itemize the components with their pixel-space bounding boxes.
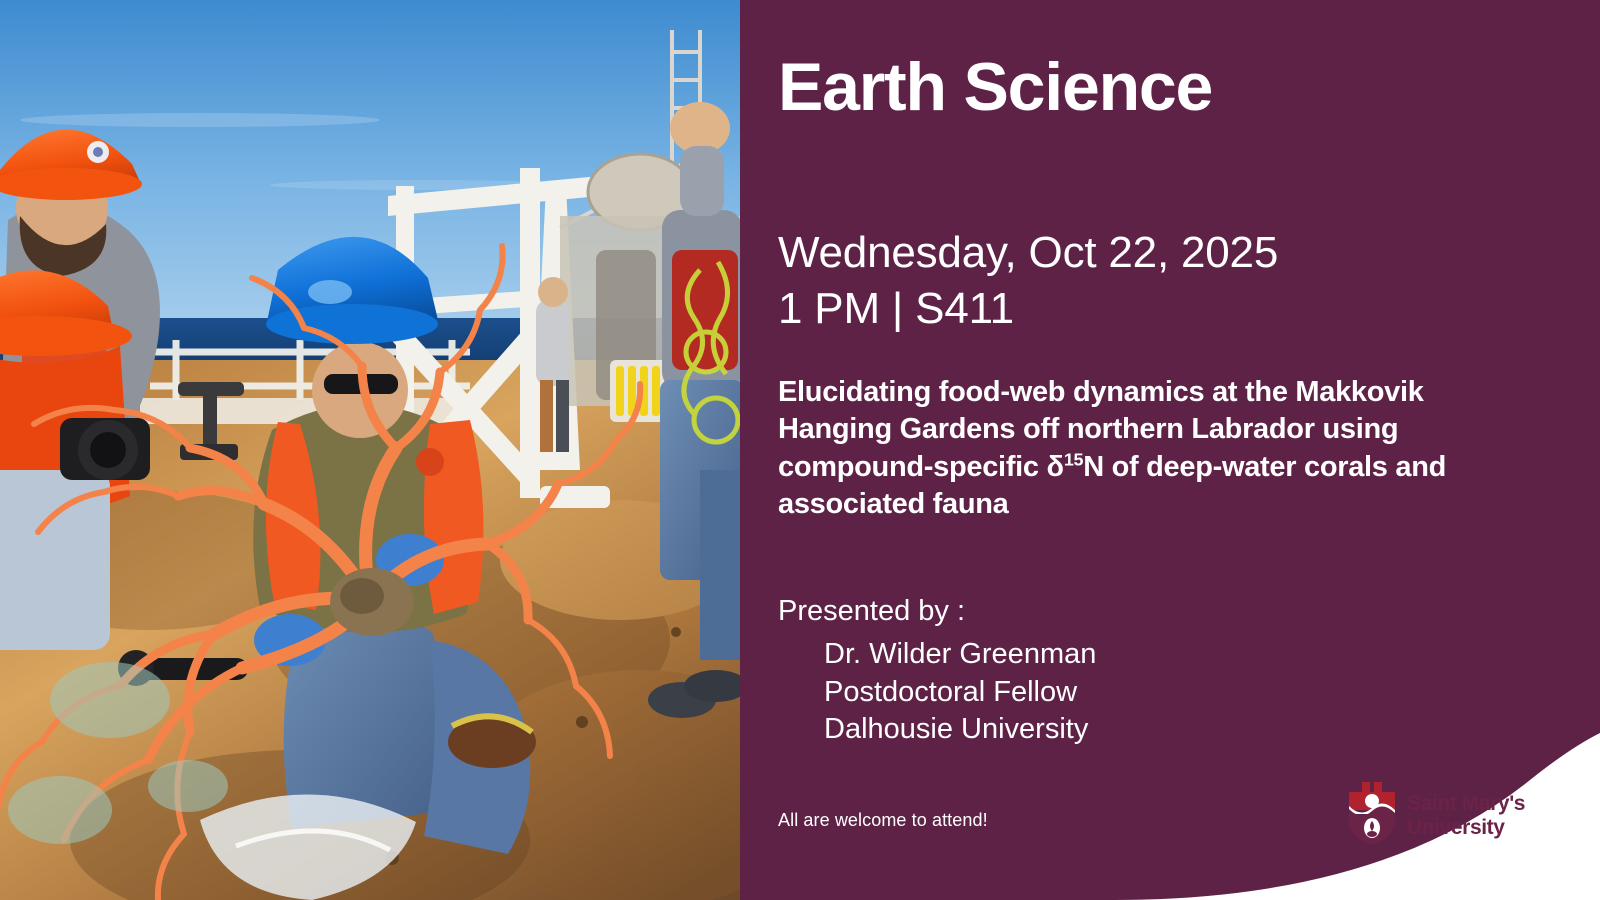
- event-time-location: 1 PM | S411: [778, 281, 1278, 337]
- presenter-position: Postdoctoral Fellow: [824, 674, 1096, 712]
- presenter-affiliation: Dalhousie University: [824, 711, 1096, 749]
- presenter-name: Dr. Wilder Greenman: [824, 636, 1096, 674]
- logo-line-2: University: [1407, 816, 1505, 839]
- logo-line-1: Saint Mary's: [1407, 792, 1525, 815]
- presenter-details: Dr. Wilder Greenman Postdoctoral Fellow …: [824, 636, 1096, 749]
- page-title: Earth Science: [778, 52, 1212, 123]
- talk-title: Elucidating food-web dynamics at the Mak…: [778, 374, 1540, 524]
- welcome-note: All are welcome to attend!: [778, 810, 988, 831]
- isotope-superscript: 15: [1064, 449, 1083, 469]
- event-date: Wednesday, Oct 22, 2025: [778, 225, 1278, 281]
- saint-marys-university-logo: Saint Mary's University: [1345, 782, 1545, 844]
- event-photo: [0, 0, 740, 900]
- event-datetime-block: Wednesday, Oct 22, 2025 1 PM | S411: [778, 225, 1278, 338]
- seminar-poster: Earth Science Wednesday, Oct 22, 2025 1 …: [0, 0, 1600, 900]
- saint-marys-crest-icon: [1349, 782, 1395, 844]
- panel-content: Earth Science Wednesday, Oct 22, 2025 1 …: [778, 0, 1558, 900]
- presented-by-label: Presented by :: [778, 597, 965, 626]
